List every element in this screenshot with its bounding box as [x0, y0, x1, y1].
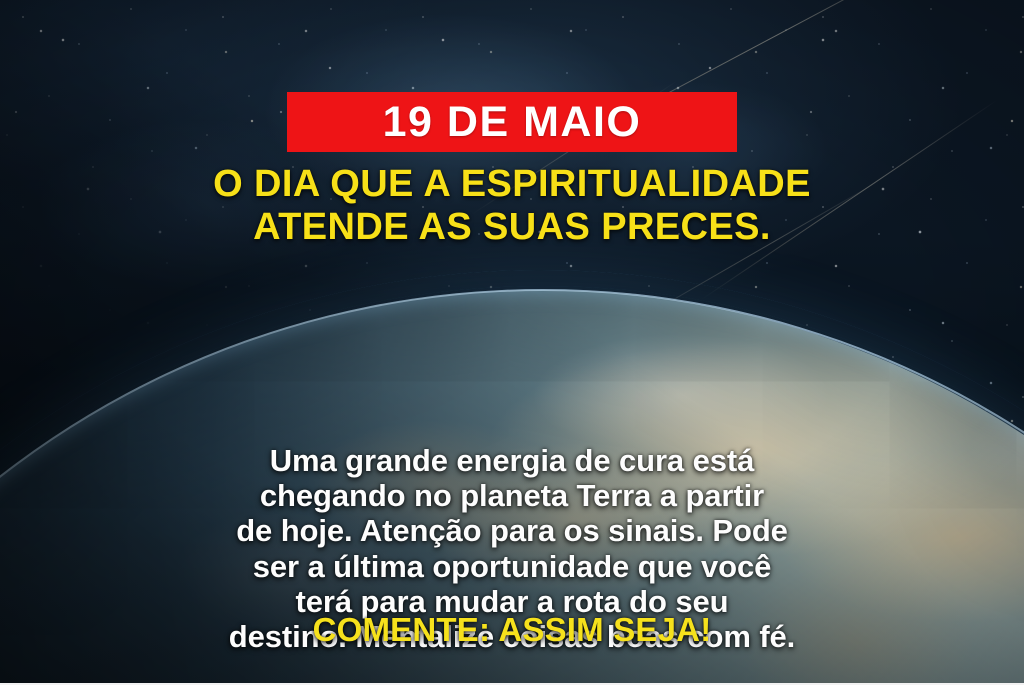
body-line-1: Uma grande energia de cura está: [0, 443, 1024, 478]
headline-line-1: O DIA QUE A ESPIRITUALIDADE: [0, 163, 1024, 206]
body-line-2: chegando no planeta Terra a partir: [0, 478, 1024, 513]
date-banner-text: 19 DE MAIO: [383, 101, 642, 144]
date-banner: 19 DE MAIO: [287, 92, 737, 152]
body-line-3: de hoje. Atenção para os sinais. Pode: [0, 513, 1024, 548]
headline: O DIA QUE A ESPIRITUALIDADE ATENDE AS SU…: [0, 163, 1024, 248]
poster-canvas: 19 DE MAIO O DIA QUE A ESPIRITUALIDADE A…: [0, 0, 1024, 685]
headline-line-2: ATENDE AS SUAS PRECES.: [0, 206, 1024, 249]
call-to-action-text: COMENTE: ASSIM SEJA!: [313, 611, 712, 648]
poster-content: 19 DE MAIO O DIA QUE A ESPIRITUALIDADE A…: [0, 0, 1024, 685]
body-line-4: ser a última oportunidade que você: [0, 549, 1024, 584]
call-to-action: COMENTE: ASSIM SEJA!: [0, 613, 1024, 646]
